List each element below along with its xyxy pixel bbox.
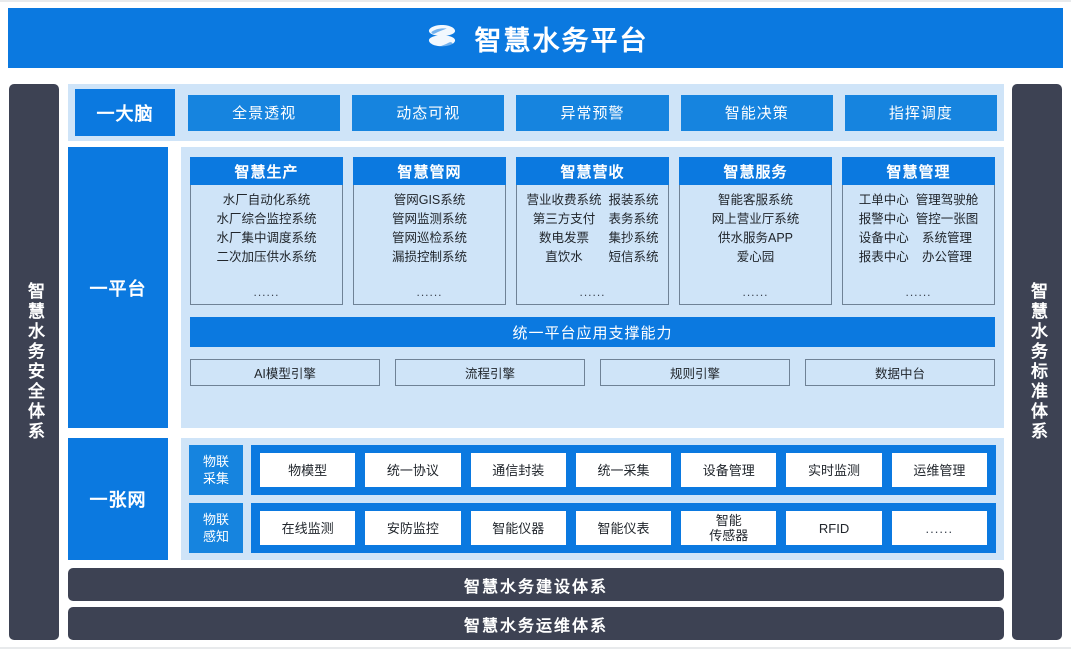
diagram-root: 智慧水务平台 智慧水务安全体系 智慧水务标准体系 一大脑 全景透视 动态可视 异… bbox=[0, 0, 1071, 649]
card-item: 系统管理 bbox=[916, 229, 979, 248]
card-item: 报警中心 bbox=[859, 210, 909, 229]
card-item: 数电发票 bbox=[526, 229, 601, 248]
network-row-tag-line2: 采集 bbox=[203, 471, 229, 486]
brain-item[interactable]: 全景透视 bbox=[188, 95, 340, 131]
network-chip[interactable]: 智能仪器 bbox=[471, 511, 566, 545]
card-title: 智慧生产 bbox=[190, 157, 343, 185]
card-item: 水厂集中调度系统 bbox=[216, 229, 316, 248]
network-chip[interactable]: 实时监测 bbox=[786, 453, 881, 487]
platform-card-list: 智慧生产 水厂自动化系统 水厂综合监控系统 水厂集中调度系统 二次加压供水系统 … bbox=[190, 157, 995, 305]
platform-layer: 一平台 智慧生产 水厂自动化系统 水厂综合监控系统 水厂集中调度系统 二次加压供… bbox=[68, 147, 1004, 428]
card-title: 智慧管理 bbox=[842, 157, 995, 185]
brain-item[interactable]: 智能决策 bbox=[681, 95, 833, 131]
network-chip[interactable]: 运维管理 bbox=[892, 453, 987, 487]
engine-list: AI模型引擎 流程引擎 规则引擎 数据中台 bbox=[190, 359, 995, 386]
card-item: 直饮水 bbox=[526, 248, 601, 267]
water-leaf-logo-icon bbox=[423, 19, 461, 57]
platform-card[interactable]: 智慧营收 营业收费系统 报装系统 第三方支付 表务系统 数电发票 集抄系统 直饮… bbox=[516, 157, 669, 305]
card-body: 智能客服系统 网上营业厅系统 供水服务APP 爱心园 ...... bbox=[679, 185, 832, 305]
engine-item[interactable]: 规则引擎 bbox=[600, 359, 790, 386]
card-body: 工单中心 管理驾驶舱 报警中心 管控一张图 设备中心 系统管理 报表中心 办公管… bbox=[842, 185, 995, 305]
brain-item-list: 全景透视 动态可视 异常预警 智能决策 指挥调度 bbox=[188, 95, 997, 131]
bottom-bar-construction: 智慧水务建设体系 bbox=[68, 568, 1004, 601]
center-stack: 一大脑 全景透视 动态可视 异常预警 智能决策 指挥调度 一平台 智慧生产 水厂… bbox=[68, 84, 1004, 640]
card-item: 集抄系统 bbox=[609, 229, 659, 248]
card-item: 报装系统 bbox=[609, 191, 659, 210]
brain-layer-label: 一大脑 bbox=[75, 89, 175, 136]
card-ellipsis: ...... bbox=[579, 285, 605, 301]
network-chip[interactable]: 通信封装 bbox=[471, 453, 566, 487]
engine-item[interactable]: 数据中台 bbox=[805, 359, 995, 386]
card-item: 营业收费系统 bbox=[526, 191, 601, 210]
network-chip-ellipsis[interactable]: ...... bbox=[892, 511, 987, 545]
brain-item[interactable]: 指挥调度 bbox=[845, 95, 997, 131]
platform-content: 智慧生产 水厂自动化系统 水厂综合监控系统 水厂集中调度系统 二次加压供水系统 … bbox=[181, 147, 1004, 428]
network-chip[interactable]: 在线监测 bbox=[260, 511, 355, 545]
platform-card[interactable]: 智慧服务 智能客服系统 网上营业厅系统 供水服务APP 爱心园 ...... bbox=[679, 157, 832, 305]
card-ellipsis: ...... bbox=[905, 285, 931, 301]
network-content: 物联 采集 物模型 统一协议 通信封装 统一采集 设备管理 实时监测 运维管理 bbox=[181, 438, 1004, 560]
card-body: 营业收费系统 报装系统 第三方支付 表务系统 数电发票 集抄系统 直饮水 短信系… bbox=[516, 185, 669, 305]
card-item: 短信系统 bbox=[609, 248, 659, 267]
card-body: 水厂自动化系统 水厂综合监控系统 水厂集中调度系统 二次加压供水系统 .....… bbox=[190, 185, 343, 305]
card-item: 管理驾驶舱 bbox=[916, 191, 979, 210]
network-row-tag-line1: 物联 bbox=[203, 512, 229, 527]
platform-support-bar: 统一平台应用支撑能力 bbox=[190, 317, 995, 347]
card-item: 水厂自动化系统 bbox=[223, 191, 311, 210]
card-item: 供水服务APP bbox=[718, 229, 793, 248]
engine-item[interactable]: AI模型引擎 bbox=[190, 359, 380, 386]
card-item: 第三方支付 bbox=[526, 210, 601, 229]
page-title: 智慧水务平台 bbox=[475, 19, 649, 58]
network-layer-label: 一张网 bbox=[68, 438, 168, 560]
network-chip[interactable]: 统一采集 bbox=[576, 453, 671, 487]
network-row-sensing: 物联 感知 在线监测 安防监控 智能仪器 智能仪表 智能 传感器 bbox=[189, 503, 996, 553]
network-layer: 一张网 物联 采集 物模型 统一协议 通信封装 统一采集 设备管理 bbox=[68, 438, 1004, 560]
brain-item[interactable]: 异常预警 bbox=[516, 95, 668, 131]
card-item: 爱心园 bbox=[737, 248, 775, 267]
platform-card[interactable]: 智慧管理 工单中心 管理驾驶舱 报警中心 管控一张图 设备中心 系统管理 报表中… bbox=[842, 157, 995, 305]
network-chip[interactable]: 设备管理 bbox=[681, 453, 776, 487]
card-ellipsis: ...... bbox=[253, 285, 279, 301]
network-row-collection: 物联 采集 物模型 统一协议 通信封装 统一采集 设备管理 实时监测 运维管理 bbox=[189, 445, 996, 495]
platform-card[interactable]: 智慧生产 水厂自动化系统 水厂综合监控系统 水厂集中调度系统 二次加压供水系统 … bbox=[190, 157, 343, 305]
card-item: 办公管理 bbox=[916, 248, 979, 267]
network-chip[interactable]: 物模型 bbox=[260, 453, 355, 487]
side-panel-security-label: 智慧水务安全体系 bbox=[24, 282, 44, 442]
network-row-tag: 物联 感知 bbox=[189, 503, 243, 553]
card-item: 管控一张图 bbox=[916, 210, 979, 229]
brain-item[interactable]: 动态可视 bbox=[352, 95, 504, 131]
card-item: 漏损控制系统 bbox=[392, 248, 467, 267]
bottom-bar-operations: 智慧水务运维体系 bbox=[68, 607, 1004, 640]
network-chip[interactable]: RFID bbox=[786, 511, 881, 545]
side-panel-standards-label: 智慧水务标准体系 bbox=[1027, 282, 1047, 442]
card-title: 智慧营收 bbox=[516, 157, 669, 185]
card-item: 报表中心 bbox=[859, 248, 909, 267]
engine-item[interactable]: 流程引擎 bbox=[395, 359, 585, 386]
network-chip-strip: 在线监测 安防监控 智能仪器 智能仪表 智能 传感器 RFID ...... bbox=[251, 503, 996, 553]
card-title: 智慧服务 bbox=[679, 157, 832, 185]
card-ellipsis: ...... bbox=[742, 285, 768, 301]
card-item: 工单中心 bbox=[859, 191, 909, 210]
network-chip[interactable]: 智能 传感器 bbox=[681, 511, 776, 545]
platform-layer-label: 一平台 bbox=[68, 147, 168, 428]
card-item-grid: 工单中心 管理驾驶舱 报警中心 管控一张图 设备中心 系统管理 报表中心 办公管… bbox=[859, 191, 979, 267]
card-item: 网上营业厅系统 bbox=[712, 210, 800, 229]
side-panel-security: 智慧水务安全体系 bbox=[9, 84, 59, 640]
network-chip[interactable]: 智能仪表 bbox=[576, 511, 671, 545]
card-item: 管网巡检系统 bbox=[392, 229, 467, 248]
network-chip-line1: 智能 bbox=[716, 513, 742, 528]
brain-layer: 一大脑 全景透视 动态可视 异常预警 智能决策 指挥调度 bbox=[68, 84, 1004, 141]
platform-card[interactable]: 智慧管网 管网GIS系统 管网监测系统 管网巡检系统 漏损控制系统 ...... bbox=[353, 157, 506, 305]
card-item: 表务系统 bbox=[609, 210, 659, 229]
card-item: 智能客服系统 bbox=[718, 191, 793, 210]
network-chip-line2: 传感器 bbox=[709, 528, 748, 543]
card-item: 设备中心 bbox=[859, 229, 909, 248]
card-item: 管网GIS系统 bbox=[394, 191, 466, 210]
card-item-grid: 营业收费系统 报装系统 第三方支付 表务系统 数电发票 集抄系统 直饮水 短信系… bbox=[526, 191, 658, 267]
network-chip[interactable]: 安防监控 bbox=[365, 511, 460, 545]
page-header: 智慧水务平台 bbox=[8, 8, 1063, 68]
card-item: 二次加压供水系统 bbox=[216, 248, 316, 267]
network-row-tag: 物联 采集 bbox=[189, 445, 243, 495]
network-chip[interactable]: 统一协议 bbox=[365, 453, 460, 487]
network-row-tag-line1: 物联 bbox=[203, 454, 229, 469]
card-title: 智慧管网 bbox=[353, 157, 506, 185]
card-body: 管网GIS系统 管网监测系统 管网巡检系统 漏损控制系统 ...... bbox=[353, 185, 506, 305]
card-item: 水厂综合监控系统 bbox=[216, 210, 316, 229]
network-row-tag-line2: 感知 bbox=[203, 529, 229, 544]
card-item: 管网监测系统 bbox=[392, 210, 467, 229]
card-ellipsis: ...... bbox=[416, 285, 442, 301]
network-chip-strip: 物模型 统一协议 通信封装 统一采集 设备管理 实时监测 运维管理 bbox=[251, 445, 996, 495]
side-panel-standards: 智慧水务标准体系 bbox=[1012, 84, 1062, 640]
